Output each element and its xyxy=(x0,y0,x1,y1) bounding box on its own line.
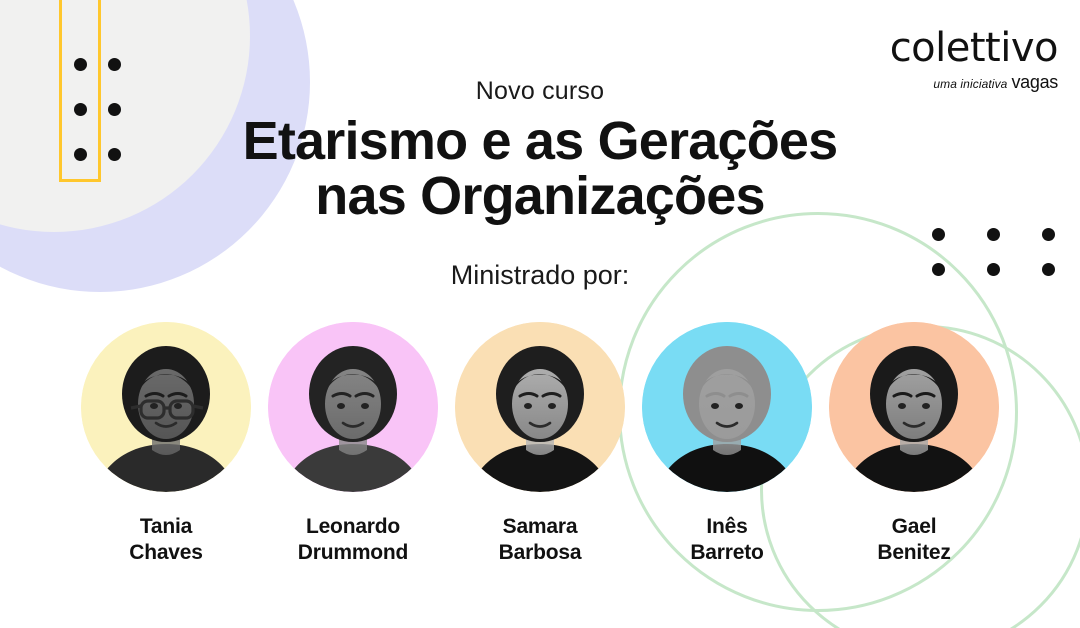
instructor-card: SamaraBarbosa xyxy=(455,322,625,565)
decorative-dot xyxy=(74,58,87,71)
instructor-avatar xyxy=(81,322,251,492)
instructor-avatar xyxy=(455,322,625,492)
instructor-name: SamaraBarbosa xyxy=(499,514,582,565)
instructor-card: InêsBarreto xyxy=(642,322,812,565)
decorative-dot xyxy=(987,228,1000,241)
instructor-name: LeonardoDrummond xyxy=(298,514,408,565)
instructor-last-name: Chaves xyxy=(129,540,203,566)
instructor-first-name: Inês xyxy=(690,514,763,540)
poster-canvas: colettivo uma iniciativavagas Novo curso… xyxy=(0,0,1080,628)
decorative-dot xyxy=(108,58,121,71)
instructor-card: GaelBenitez xyxy=(829,322,999,565)
instructor-last-name: Drummond xyxy=(298,540,408,566)
instructor-last-name: Barreto xyxy=(690,540,763,566)
instructor-last-name: Barbosa xyxy=(499,540,582,566)
instructor-name: TaniaChaves xyxy=(129,514,203,565)
instructor-name: InêsBarreto xyxy=(690,514,763,565)
instructor-first-name: Samara xyxy=(499,514,582,540)
page-title-line-2: nas Organizações xyxy=(0,169,1080,225)
instructor-first-name: Leonardo xyxy=(298,514,408,540)
eyebrow-label: Novo curso xyxy=(0,78,1080,106)
instructor-avatar xyxy=(268,322,438,492)
header-block: Novo curso Etarismo e as Gerações nas Or… xyxy=(0,78,1080,225)
decorative-dot xyxy=(1042,228,1055,241)
logo-wordmark: colettivo xyxy=(890,28,1058,68)
instructor-name: GaelBenitez xyxy=(877,514,950,565)
instructor-avatar xyxy=(829,322,999,492)
instructor-avatar xyxy=(642,322,812,492)
instructor-first-name: Tania xyxy=(129,514,203,540)
subheading: Ministrado por: xyxy=(0,260,1080,291)
instructor-list: TaniaChaves xyxy=(0,322,1080,565)
instructor-card: LeonardoDrummond xyxy=(268,322,438,565)
instructor-first-name: Gael xyxy=(877,514,950,540)
instructor-last-name: Benitez xyxy=(877,540,950,566)
decorative-dot xyxy=(932,228,945,241)
page-title-line-1: Etarismo e as Gerações xyxy=(0,114,1080,170)
instructor-card: TaniaChaves xyxy=(81,322,251,565)
page-title: Etarismo e as Gerações nas Organizações xyxy=(0,114,1080,225)
